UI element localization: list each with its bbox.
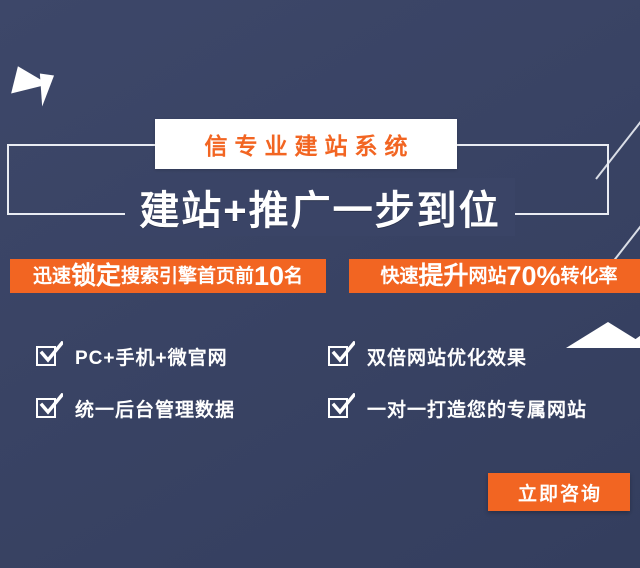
bar-segment: 10 (254, 263, 284, 290)
headline-text: 建站+推广一步到位 (125, 178, 514, 236)
list-item: 一对一打造您的专属网站 (328, 395, 628, 422)
bar-segment: 转化率 (561, 267, 618, 286)
bar-segment: 名 (284, 267, 303, 286)
paper-plane-icon (11, 66, 51, 101)
highlight-bar-rank-promise: 迅速 锁定 搜索引擎首页前 10 名 (10, 259, 326, 293)
checkbox-checked-icon (328, 344, 352, 368)
bar-segment: 迅速 (33, 267, 71, 286)
checkbox-checked-icon (328, 396, 352, 420)
bar-segment: 锁定 (71, 264, 121, 289)
bar-segment: 提升 (418, 264, 468, 289)
promo-banner: 信专业建站系统 建站+推广一步到位 迅速 锁定 搜索引擎首页前 10 名 快速 … (0, 0, 640, 568)
feature-label: 统一后台管理数据 (75, 395, 235, 422)
feature-label: PC+手机+微官网 (75, 343, 228, 370)
bar-segment: 70% (506, 263, 560, 290)
bar-segment: 快速 (380, 267, 418, 286)
paper-plane-icon-wing (40, 73, 56, 107)
checkbox-checked-icon (36, 396, 60, 420)
list-item: PC+手机+微官网 (36, 343, 328, 370)
badge-label: 信专业建站系统 (198, 127, 415, 161)
feature-label: 一对一打造您的专属网站 (367, 395, 587, 422)
consult-now-button[interactable]: 立即咨询 (488, 473, 630, 511)
page-title: 建站+推广一步到位 (0, 178, 640, 236)
badge: 信专业建站系统 (155, 119, 457, 169)
feature-list: PC+手机+微官网 双倍网站优化效果 统一后台管理数据 (36, 330, 636, 434)
feature-label: 双倍网站优化效果 (367, 343, 527, 370)
list-item: 双倍网站优化效果 (328, 343, 628, 370)
bar-segment: 搜索引擎首页前 (121, 267, 254, 286)
checkbox-checked-icon (36, 344, 60, 368)
list-item: 统一后台管理数据 (36, 395, 328, 422)
highlight-bar-conversion-promise: 快速 提升 网站 70% 转化率 (349, 259, 640, 293)
bar-segment: 网站 (468, 267, 506, 286)
